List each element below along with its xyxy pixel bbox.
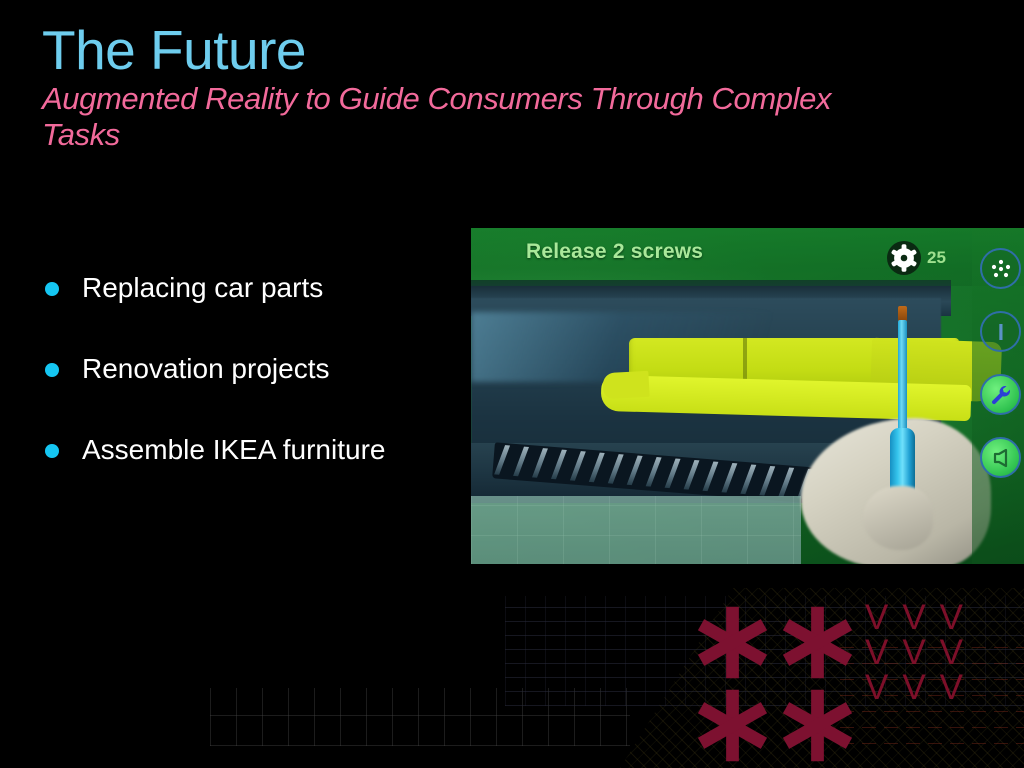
bullet-label: Renovation projects [82,353,329,385]
grille-tooth [759,466,775,496]
torx-screw-icon [887,241,921,275]
chevron-glyph: V [902,600,925,635]
tiled-floor [471,496,801,564]
grille-tooth [702,462,718,492]
chevron-glyph: V [940,670,963,705]
hand-thumb [863,486,933,550]
slide-subtitle: Augmented Reality to Guide Consumers Thr… [42,81,872,153]
page-title: The Future [42,22,942,78]
screwdriver-shaft [898,320,907,438]
wrench-icon[interactable] [980,374,1021,415]
grille-tooth [684,460,700,490]
chevron-glyph: V [865,670,888,705]
instruction-text: Release 2 screws [526,240,703,264]
chevron-glyph: V [865,635,888,670]
decor-diagonal-mesh [620,588,1024,768]
bullet-dot-icon [45,282,59,296]
list-item: Replacing car parts [42,272,462,353]
chevron-glyph: V [865,600,888,635]
grille-tooth [665,459,681,489]
grille-tooth [570,451,586,481]
grille-tooth [627,456,643,486]
grille-tooth [551,450,567,480]
bullet-dot-icon [45,363,59,377]
decor-tick-grid [210,688,630,746]
decor-chevron-cluster: V V V V V V V V V [858,600,970,700]
list-item: Renovation projects [42,353,462,434]
bullet-dot-icon [45,444,59,458]
chevron-glyph: V [940,600,963,635]
play-speaker-icon[interactable] [980,437,1021,478]
chevron-glyph: V [940,635,963,670]
bullet-label: Replacing car parts [82,272,323,304]
ar-demo-image: Release 2 screws 25 [471,228,1024,564]
grille-tooth [721,463,737,493]
info-icon[interactable] [980,311,1021,352]
chevron-glyph: V [902,635,925,670]
asterisk-icon [690,600,775,685]
asterisk-icon [690,683,775,768]
title-block: The Future Augmented Reality to Guide Co… [42,22,942,153]
grille-tooth [589,453,605,483]
grille-tooth [608,454,624,484]
ar-icon-sidebar [972,228,1024,564]
chevron-glyph: V [902,670,925,705]
bullet-list: Replacing car parts Renovation projects … [42,272,462,515]
grille-tooth [494,445,510,475]
grille-tooth [513,447,529,477]
grille-tooth [778,467,794,497]
grille-tooth [740,465,756,495]
network-dots-icon[interactable] [980,248,1021,289]
decor-line-grid [505,596,1024,706]
asterisk-icon [775,683,860,768]
bullet-label: Assemble IKEA furniture [82,434,385,466]
decorative-graphics: V V V V V V V V V [0,568,1024,768]
presentation-slide: The Future Augmented Reality to Guide Co… [0,0,1024,768]
grille-tooth [532,448,548,478]
decor-dashed-rows [840,640,1024,744]
grille-tooth [646,457,662,487]
ar-highlight-tab [602,371,649,399]
list-item: Assemble IKEA furniture [42,434,462,515]
screw-size-label: 25 [927,248,946,268]
decor-asterisk-cluster [690,600,860,766]
asterisk-icon [775,600,860,685]
